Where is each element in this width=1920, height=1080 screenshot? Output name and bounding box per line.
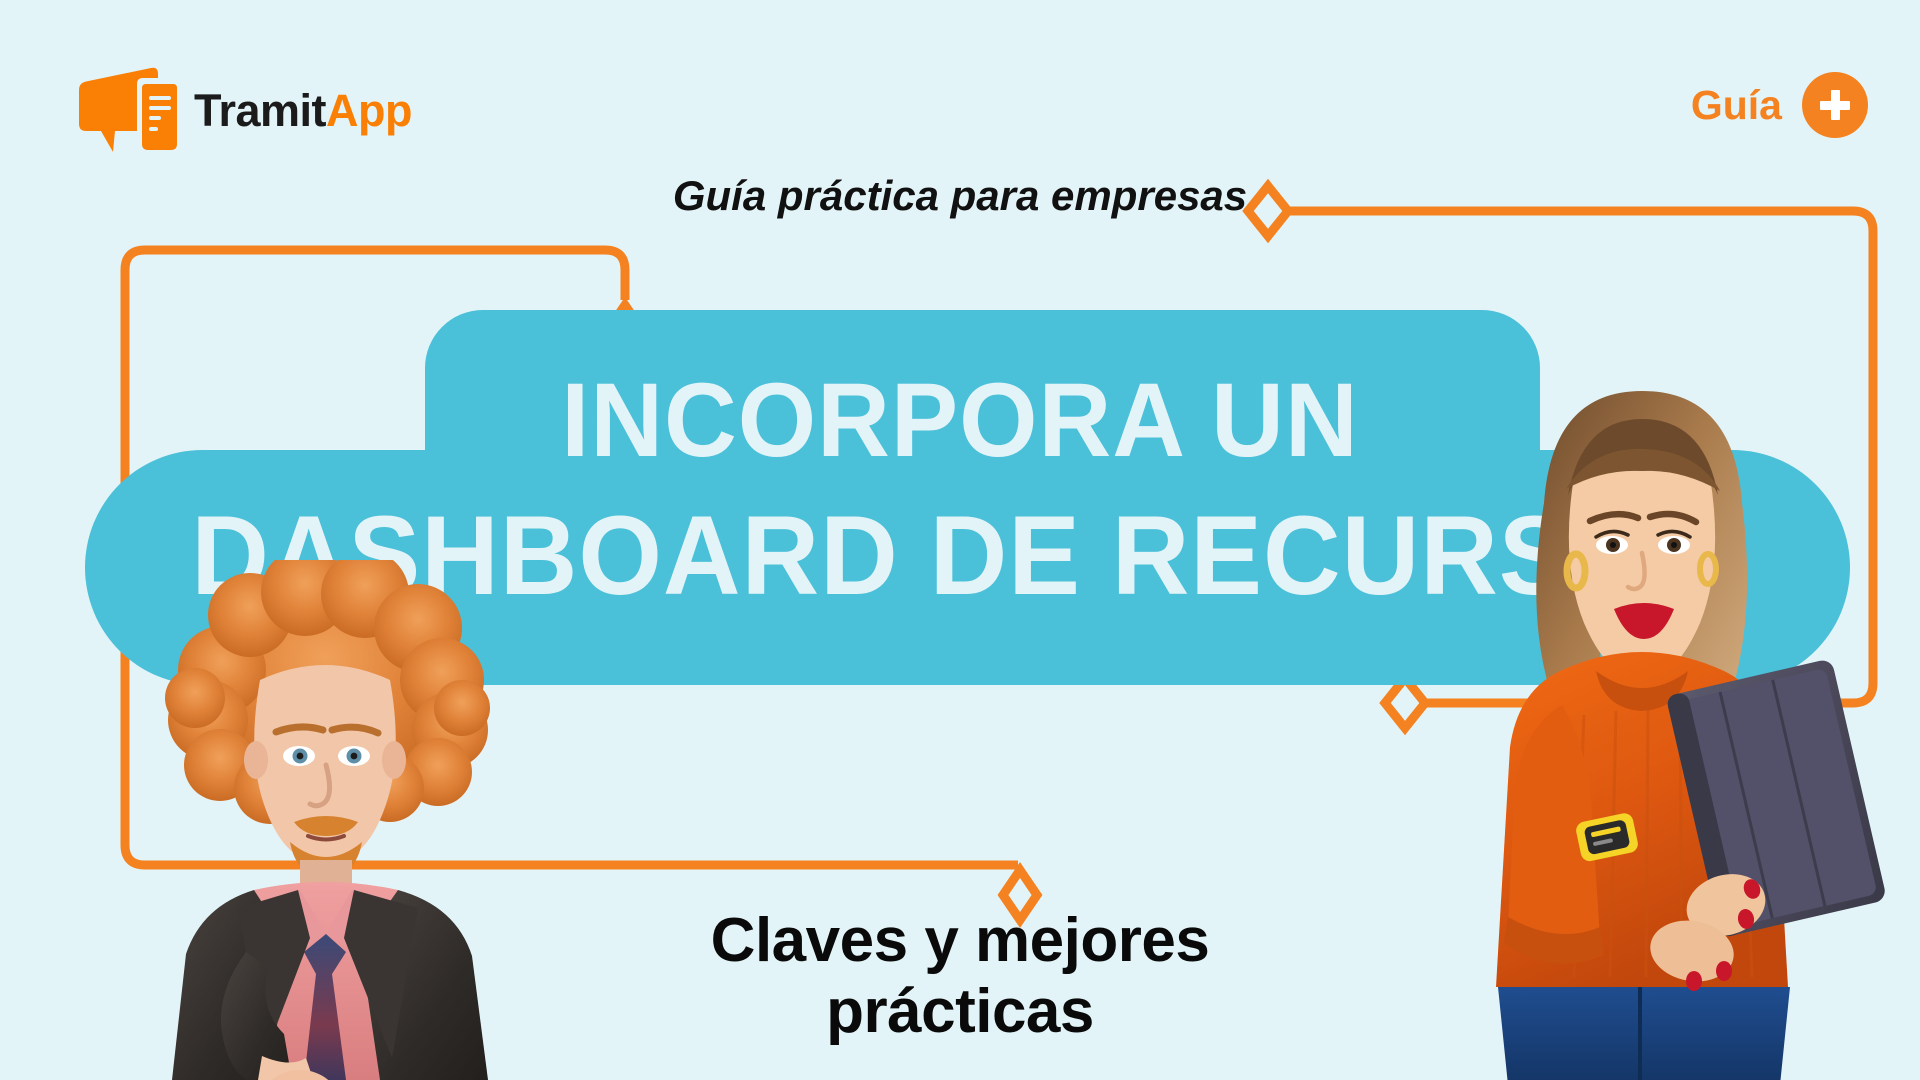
logo-word-app: App <box>326 85 412 136</box>
poster-canvas: INCORPORA UN DASHBOARD DE RECURSOS Guía … <box>0 0 1920 1080</box>
logo-wordmark: TramitApp <box>194 88 412 133</box>
guia-label: Guía <box>1691 85 1782 126</box>
diamond-endpoint-bottom-right <box>1385 678 1425 728</box>
footer-line-1: Claves y mejores <box>0 905 1920 976</box>
plus-icon[interactable] <box>1802 72 1868 138</box>
guia-badge[interactable]: Guía <box>1691 72 1868 138</box>
speech-bubble-document-icon <box>75 66 180 154</box>
footer-headline: Claves y mejores prácticas <box>0 905 1920 1048</box>
footer-line-2: prácticas <box>0 976 1920 1047</box>
tramitapp-logo[interactable]: TramitApp <box>75 66 412 154</box>
logo-word-tramit: Tramit <box>194 85 326 136</box>
kicker-subtitle: Guía práctica para empresas <box>0 172 1920 220</box>
